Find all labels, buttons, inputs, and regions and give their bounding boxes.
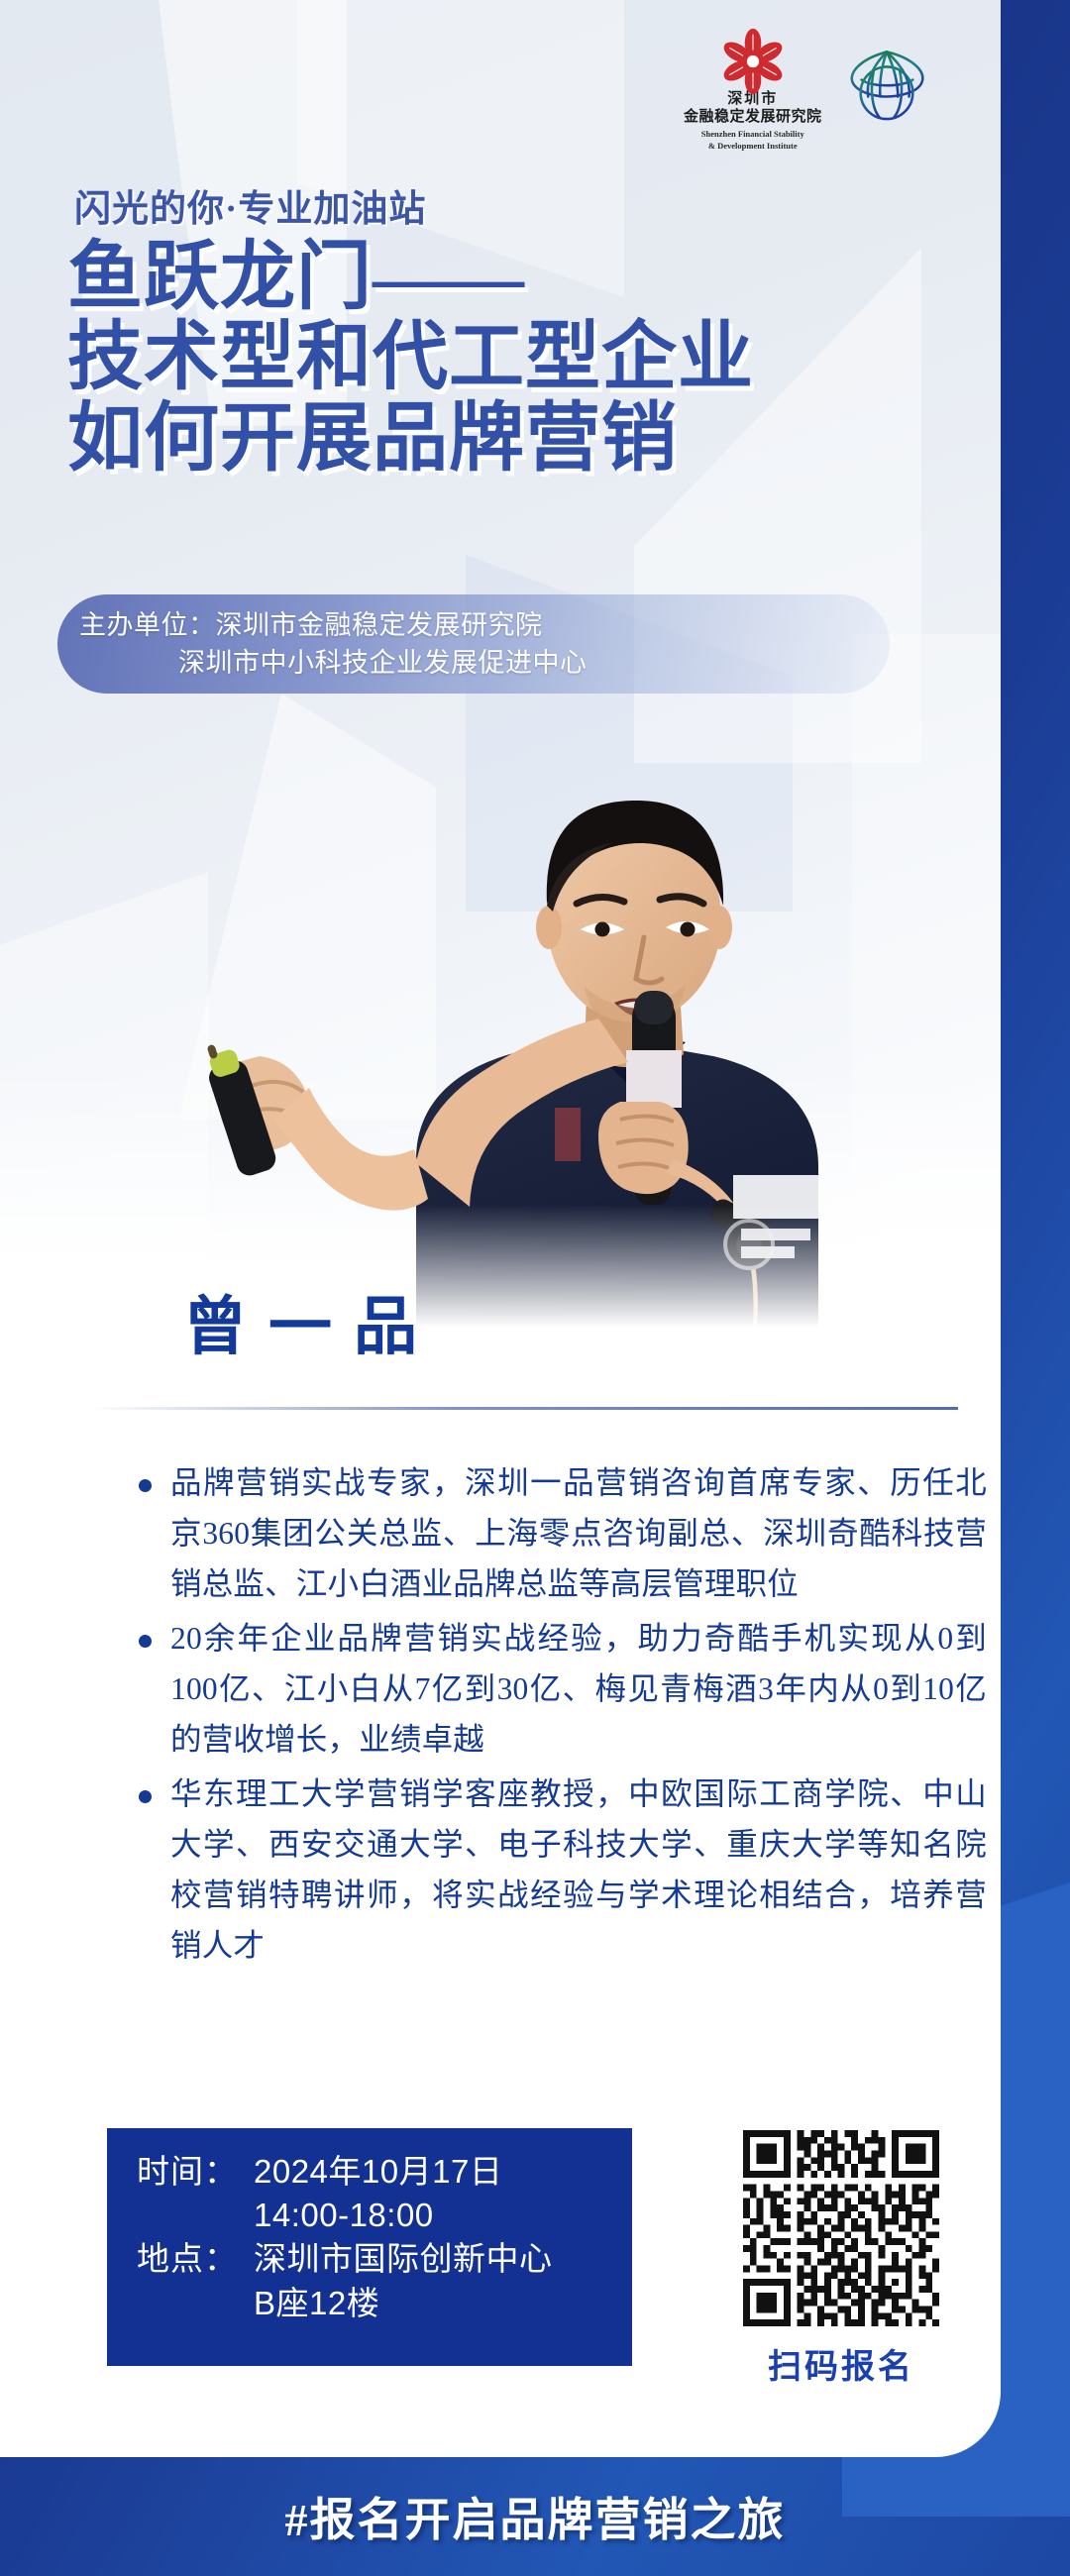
footer-bar: #报名开启品牌营销之旅 xyxy=(0,2457,1070,2576)
sakura-flower-logo-icon xyxy=(717,26,789,97)
bio-bullet: 品牌营销实战专家，深圳一品营销咨询首席专家、历任北京360集团公关总监、上海零点… xyxy=(135,1457,987,1609)
event-place-row: 地点： 深圳市国际创新中心 B座12楼 xyxy=(137,2237,602,2324)
event-time-range: 14:00-18:00 xyxy=(254,2194,502,2237)
event-time-row: 时间： 2024年10月17日 14:00-18:00 xyxy=(137,2150,602,2237)
title-line-1: 鱼跃龙门—— xyxy=(67,238,959,318)
poster-card: 深圳市 金融稳定发展研究院 Shenzhen Financial Stabili… xyxy=(0,0,1001,2457)
organizer-line-2: 深圳市中小科技企业发展促进中心 xyxy=(79,644,890,682)
event-date: 2024年10月17日 xyxy=(254,2153,502,2190)
qr-caption: 扫码报名 xyxy=(743,2339,939,2388)
speaker-photo xyxy=(119,694,911,1328)
logo-group: 深圳市 金融稳定发展研究院 Shenzhen Financial Stabili… xyxy=(684,26,933,152)
institute-name-cn-line2: 金融稳定发展研究院 xyxy=(684,109,822,127)
event-time-label: 时间： xyxy=(137,2150,254,2194)
qr-code-icon[interactable] xyxy=(743,2130,939,2326)
event-venue-floor: B座12楼 xyxy=(254,2282,553,2325)
organizer-banner: 主办单位：深圳市金融稳定发展研究院 深圳市中小科技企业发展促进中心 xyxy=(57,594,890,694)
speaker-name: 曾一品 xyxy=(183,1276,439,1367)
institute-logo: 深圳市 金融稳定发展研究院 Shenzhen Financial Stabili… xyxy=(684,26,822,152)
institute-name-en: Shenzhen Financial Stability & Developme… xyxy=(701,129,804,152)
title-line-3: 如何开展品牌营销 xyxy=(67,399,959,480)
event-details-box: 时间： 2024年10月17日 14:00-18:00 地点： 深圳市国际创新中… xyxy=(107,2128,632,2366)
bio-bullet: 20余年企业品牌营销实战经验，助力奇酷手机实现从0到100亿、江小白从7亿到30… xyxy=(135,1613,987,1765)
institute-name-en-line2: & Development Institute xyxy=(701,141,804,152)
kicker-text: 闪光的你·专业加油站 xyxy=(74,178,426,232)
bio-bullet: 华东理工大学营销学客座教授，中欧国际工商学院、中山大学、西安交通大学、电子科技大… xyxy=(135,1769,987,1971)
event-venue: 深圳市国际创新中心 xyxy=(254,2240,553,2277)
title-line-2: 技术型和代工型企业 xyxy=(67,318,959,398)
page-title: 鱼跃龙门—— 技术型和代工型企业 如何开展品牌营销 xyxy=(67,238,959,480)
event-place-value: 深圳市国际创新中心 B座12楼 xyxy=(254,2237,553,2324)
event-time-value: 2024年10月17日 14:00-18:00 xyxy=(254,2150,502,2237)
speaker-bio-list: 品牌营销实战专家，深圳一品营销咨询首席专家、历任北京360集团公关总监、上海零点… xyxy=(95,1457,987,1975)
footer-hashtag: #报名开启品牌营销之旅 xyxy=(285,2484,786,2549)
registration-qr-block[interactable]: 扫码报名 xyxy=(743,2130,939,2388)
event-poster: 深圳市 金融稳定发展研究院 Shenzhen Financial Stabili… xyxy=(0,0,1070,2576)
globe-logo-icon xyxy=(840,43,933,136)
organizer-line-1: 主办单位：深圳市金融稳定发展研究院 xyxy=(79,606,890,644)
event-place-label: 地点： xyxy=(137,2237,254,2281)
speaker-divider xyxy=(91,1407,958,1410)
institute-name-en-line1: Shenzhen Financial Stability xyxy=(701,129,804,140)
